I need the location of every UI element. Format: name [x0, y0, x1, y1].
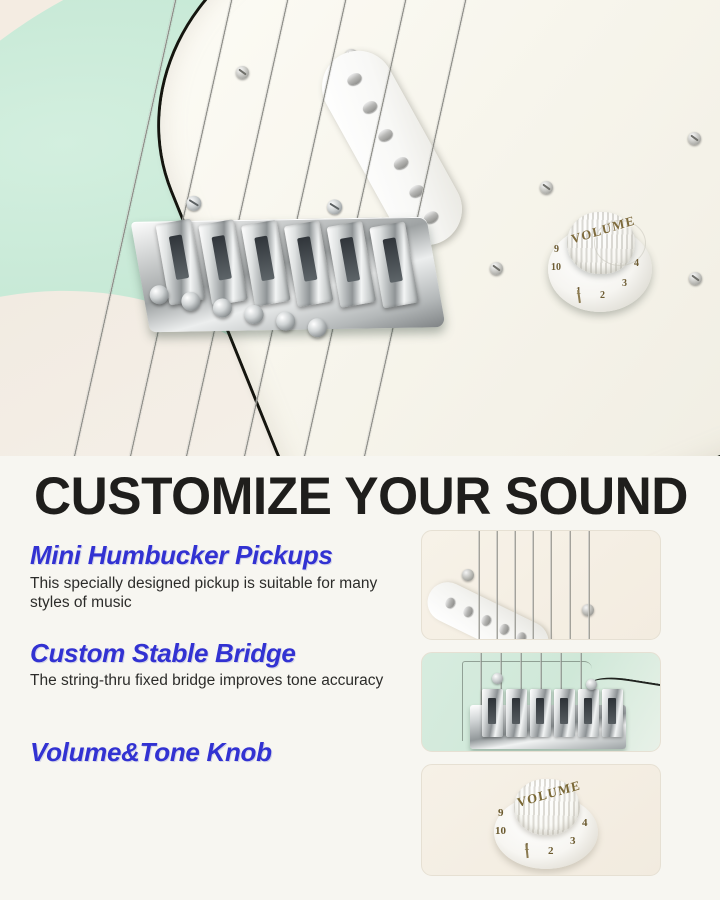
thumb-knob-number-3: 3: [570, 835, 576, 847]
feature-title: Custom Stable Bridge: [30, 638, 430, 669]
thumb-pole-piece: [462, 605, 475, 619]
thumb-pole-piece: [515, 631, 528, 640]
feature-pickups: Mini Humbucker Pickups This specially de…: [30, 540, 430, 613]
thumb-pole-piece: [444, 596, 457, 610]
knob-number-2: 2: [600, 290, 605, 301]
thumb-string: [496, 530, 498, 640]
thumb-string: [550, 530, 552, 640]
feature-title: Volume&Tone Knob: [30, 737, 430, 768]
thumb-volume-knob: VOLUME 9 10 1 2 3 4: [494, 779, 598, 871]
thumb-pickup-screw: [462, 569, 474, 581]
feature-list: Mini Humbucker Pickups This specially de…: [30, 540, 430, 787]
thumb-bridge-screw: [586, 679, 597, 690]
thumb-bridge-saddle: [482, 689, 503, 737]
thumb-string: [514, 530, 516, 640]
feature-section: CUSTOMIZE YOUR SOUND Mini Humbucker Pick…: [0, 456, 720, 900]
thumb-knob-number-2: 2: [548, 845, 554, 857]
thumb-pole-piece: [480, 614, 493, 628]
thumb-bridge-saddle: [578, 689, 599, 737]
bridge-mount-screw: [326, 198, 343, 215]
feature-description: This specially designed pickup is suitab…: [30, 574, 402, 613]
knob-number-3: 3: [622, 278, 627, 289]
knob-number-10: 10: [551, 262, 561, 273]
knob-thumbnail: VOLUME 9 10 1 2 3 4: [421, 764, 661, 876]
thumb-string: [478, 530, 480, 640]
feature-thumbnails: VOLUME 9 10 1 2 3 4: [421, 530, 661, 888]
thumb-bridge-saddle: [506, 689, 527, 737]
feature-bridge: Custom Stable Bridge The string-thru fix…: [30, 638, 430, 691]
page-title: CUSTOMIZE YOUR SOUND: [34, 470, 688, 523]
thumb-knob-number-9: 9: [498, 807, 504, 819]
knob-number-4: 4: [634, 258, 639, 269]
knob-number-9: 9: [554, 244, 559, 255]
thumb-pickup-body: [421, 576, 555, 640]
thumb-bridge-assembly: [470, 671, 628, 745]
thumb-string: [569, 530, 571, 640]
pickup-thumbnail: [421, 530, 661, 640]
thumb-bridge-saddle: [554, 689, 575, 737]
hero-product-photo: VOLUME 9 10 1 2 3 4: [0, 0, 720, 456]
thumb-string: [588, 530, 590, 640]
bridge-mount-screw: [185, 195, 202, 212]
feature-description: The string-thru fixed bridge improves to…: [30, 671, 402, 691]
thumb-knob-number-10: 10: [495, 825, 506, 837]
volume-knob: VOLUME 9 10 1 2 3 4: [548, 212, 652, 316]
thumb-bridge-screw: [492, 673, 503, 684]
bridge-thumbnail: [421, 652, 661, 752]
thumb-string: [532, 530, 534, 640]
thumb-pole-piece: [497, 622, 510, 636]
thumb-knob-number-4: 4: [582, 817, 588, 829]
thumb-bridge-saddle: [602, 689, 623, 737]
feature-title: Mini Humbucker Pickups: [30, 540, 430, 571]
thumb-bridge-saddle: [530, 689, 551, 737]
feature-knob: Volume&Tone Knob: [30, 737, 430, 768]
